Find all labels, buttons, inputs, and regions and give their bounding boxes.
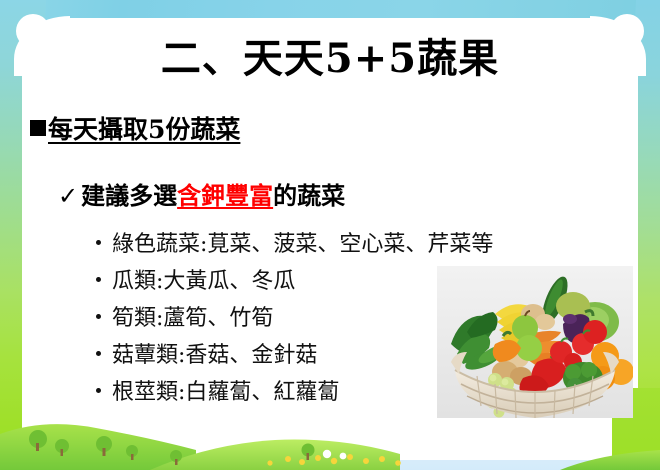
round-bullet-icon <box>96 351 101 356</box>
hills-decoration <box>0 410 660 470</box>
list-item-label: 瓜類:大黃瓜、冬瓜 <box>112 263 295 300</box>
list-item: 瓜類:大黃瓜、冬瓜 <box>96 263 493 300</box>
list-item: 筍類:蘆筍、竹筍 <box>96 300 493 337</box>
list-item: 菇蕈類:香菇、金針菇 <box>96 337 493 374</box>
list-item-label: 綠色蔬菜:莧菜、菠菜、空心菜、芹菜等 <box>112 226 493 263</box>
slide-canvas: 二、天天5+5蔬果 每天攝取5份蔬菜 ✓ 建議多選 含鉀豐富 的蔬菜 綠色蔬菜:… <box>0 0 660 470</box>
list-item-label: 筍類:蘆筍、竹筍 <box>112 300 273 337</box>
round-bullet-icon <box>96 240 101 245</box>
round-bullet-icon <box>96 277 101 282</box>
slide-title: 二、天天5+5蔬果 <box>0 26 660 84</box>
list-item: 根莖類:白蘿蔔、紅蘿蔔 <box>96 374 493 411</box>
round-bullet-icon <box>96 314 101 319</box>
level1-bullet-row: 每天攝取5份蔬菜 <box>30 110 240 146</box>
level2-text-after: 的蔬菜 <box>273 176 345 211</box>
list-item-label: 根莖類:白蘿蔔、紅蘿蔔 <box>112 374 339 411</box>
round-bullet-icon <box>96 388 101 393</box>
vegetable-basket-photo <box>437 266 633 418</box>
list-item: 綠色蔬菜:莧菜、菠菜、空心菜、芹菜等 <box>96 226 493 263</box>
level1-text: 每天攝取5份蔬菜 <box>48 110 240 146</box>
level2-text-before: 建議多選 <box>81 176 177 211</box>
list-item-label: 菇蕈類:香菇、金針菇 <box>112 337 317 374</box>
level3-list: 綠色蔬菜:莧菜、菠菜、空心菜、芹菜等 瓜類:大黃瓜、冬瓜 筍類:蘆筍、竹筍 菇蕈… <box>96 226 493 411</box>
level2-bullet-row: ✓ 建議多選 含鉀豐富 的蔬菜 <box>58 176 345 211</box>
level2-text-highlight: 含鉀豐富 <box>177 176 273 211</box>
checkmark-icon: ✓ <box>58 182 78 210</box>
square-bullet-icon <box>30 120 46 136</box>
